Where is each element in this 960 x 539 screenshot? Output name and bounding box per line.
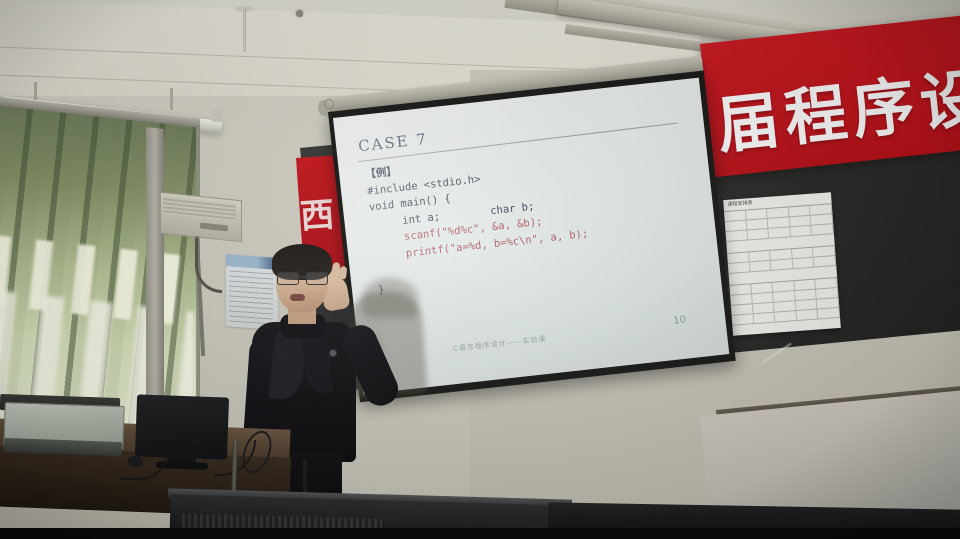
lapel-badge [330, 350, 336, 356]
slide-title: CASE 7 [357, 130, 428, 156]
slide-example-marker: 【例】 [365, 165, 398, 180]
eyebrow [306, 267, 321, 270]
glasses-lens-right [306, 272, 328, 285]
glasses-lens-left [277, 272, 299, 285]
ceiling-rod [243, 8, 246, 52]
glasses-bridge [297, 276, 306, 278]
eyeglasses [276, 272, 328, 283]
eyebrow [278, 268, 293, 271]
floor-shadow [0, 528, 960, 539]
presenter-mouth [290, 294, 305, 301]
slide-page-number: 10 [673, 315, 687, 327]
schedule-poster: 课程安排表 [723, 192, 841, 336]
classroom-photo: 课程安排表 西 届程序设 CASE 7 【例】 #include <stdio.… [0, 0, 960, 539]
slide-footer-text: C语言程序设计——实验课 [453, 334, 547, 354]
light-hanger [170, 88, 173, 110]
projector-screen-pull-knob[interactable] [324, 99, 334, 109]
red-banner-left-text: 西 [298, 187, 335, 238]
ceiling-fixture-dot [296, 10, 303, 17]
fluorescent-tube-end [211, 108, 222, 122]
wall-pillar [146, 127, 164, 429]
finger [339, 266, 347, 280]
